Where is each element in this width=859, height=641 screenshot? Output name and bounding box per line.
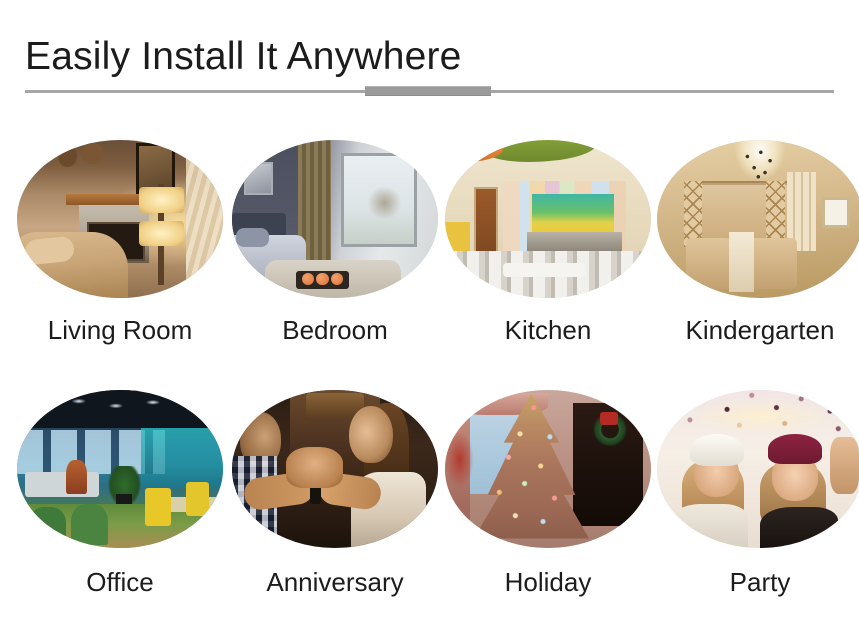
- party-photo[interactable]: [657, 390, 859, 548]
- table-shape: [503, 263, 585, 277]
- winter-hat-icon: [768, 434, 822, 464]
- category-label: Living Room: [17, 314, 223, 346]
- glass-partition-shape: [141, 428, 223, 488]
- bow-icon: [600, 412, 619, 425]
- lamp-shade-icon: [139, 221, 184, 246]
- orange-ceiling-shape: [449, 143, 503, 162]
- category-label: Office: [17, 566, 223, 598]
- yellow-chair-shape: [145, 488, 172, 526]
- category-label: Holiday: [445, 566, 651, 598]
- table-shape: [729, 232, 754, 292]
- kitchen-photo[interactable]: [445, 140, 651, 298]
- wall-decor-icon: [58, 145, 77, 167]
- category-card-bedroom[interactable]: Bedroom: [232, 140, 438, 346]
- clasped-hands-shape: [286, 447, 344, 488]
- category-card-anniversary[interactable]: Anniversary: [232, 390, 438, 598]
- confetti-icon: [657, 390, 859, 478]
- category-label: Kitchen: [445, 314, 651, 346]
- coat-shape: [760, 507, 838, 548]
- winter-hat-icon: [690, 434, 744, 466]
- coat-shape: [669, 504, 747, 548]
- bedroom-photo[interactable]: [232, 140, 438, 298]
- chandelier-crystals-icon: [739, 146, 780, 181]
- green-chair-shape: [29, 507, 66, 545]
- page-title: Easily Install It Anywhere: [25, 30, 462, 84]
- office-photo[interactable]: [17, 390, 223, 548]
- category-label: Bedroom: [232, 314, 438, 346]
- lamp-shade-icon: [139, 187, 184, 212]
- category-card-kitchen[interactable]: Kitchen: [445, 140, 651, 346]
- curtain-shape: [186, 140, 223, 298]
- yellow-chair-shape: [186, 482, 209, 517]
- category-label: Kindergarten: [657, 314, 859, 346]
- category-card-party[interactable]: Party: [657, 390, 859, 598]
- garland-icon: [445, 431, 474, 488]
- category-label: Anniversary: [232, 566, 438, 598]
- section-divider: [25, 86, 834, 96]
- holiday-photo[interactable]: [445, 390, 651, 548]
- divider-thumb[interactable]: [365, 86, 491, 96]
- kindergarten-photo[interactable]: [657, 140, 859, 298]
- mural-panel-shape: [532, 194, 614, 235]
- counter-shape: [527, 232, 622, 251]
- category-card-holiday[interactable]: Holiday: [445, 390, 651, 598]
- green-chair-shape: [71, 504, 108, 545]
- booth-seat-shape: [748, 238, 797, 289]
- living-room-photo[interactable]: [17, 140, 223, 298]
- tree-outside-shape: [368, 181, 401, 225]
- framed-art-icon: [822, 197, 851, 228]
- pillow-shape: [236, 228, 269, 247]
- anniversary-photo[interactable]: [232, 390, 438, 548]
- category-card-office[interactable]: Office: [17, 390, 223, 598]
- booth-seat-shape: [686, 238, 731, 289]
- wall-decor-icon: [81, 143, 104, 164]
- category-card-living-room[interactable]: Living Room: [17, 140, 223, 346]
- category-card-kindergarten[interactable]: Kindergarten: [657, 140, 859, 346]
- category-label: Party: [657, 566, 859, 598]
- woman-head-shape: [349, 406, 392, 463]
- category-gallery: Living Room: [0, 140, 859, 640]
- raised-arm-shape: [830, 437, 859, 494]
- ceiling-lights-icon: [17, 396, 223, 424]
- yellow-panel-shape: [445, 222, 470, 254]
- gallery-row: Office Anniversary: [0, 390, 859, 640]
- desk-shape: [25, 472, 99, 497]
- person-shape: [66, 460, 87, 495]
- wall-sconce-icon: [244, 162, 273, 194]
- fruit-icon: [316, 273, 328, 286]
- gallery-row: Living Room: [0, 140, 859, 390]
